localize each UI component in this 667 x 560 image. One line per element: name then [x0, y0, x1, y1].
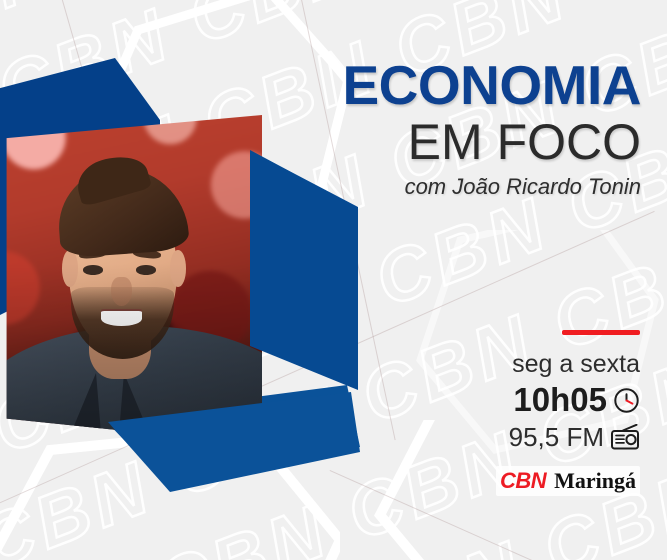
promo-banner: CBN CBN CBN CBN CBN CBN CBN CBN CBN CBN … [0, 0, 667, 560]
title-block: ECONOMIA EM FOCO com João Ricardo Tonin [343, 56, 642, 202]
page-title-secondary: EM FOCO [343, 114, 642, 170]
broadcast-frequency: 95,5 FM [509, 420, 604, 454]
broadcast-time-row: 10h05 [496, 380, 640, 420]
broadcast-info: seg a sexta 10h05 95,5 FM CBN Maringá [496, 330, 640, 496]
red-divider [562, 330, 640, 335]
watermark-row: CBN CBN CBN CBN CBN CBN CBN CBN CBN [141, 544, 667, 560]
photo-vignette [4, 115, 262, 445]
broadcast-frequency-row: 95,5 FM [496, 420, 640, 454]
broadcast-days: seg a sexta [496, 349, 640, 380]
radio-icon [610, 424, 640, 451]
clock-icon [613, 387, 640, 414]
host-photo [4, 115, 262, 445]
page-title-primary: ECONOMIA [343, 56, 642, 114]
broadcast-time: 10h05 [513, 380, 607, 420]
logo-city-text: Maringá [554, 468, 636, 494]
station-logo: CBN Maringá [496, 466, 640, 496]
logo-cbn-text: CBN [500, 468, 546, 494]
host-credit: com João Ricardo Tonin [343, 172, 642, 202]
